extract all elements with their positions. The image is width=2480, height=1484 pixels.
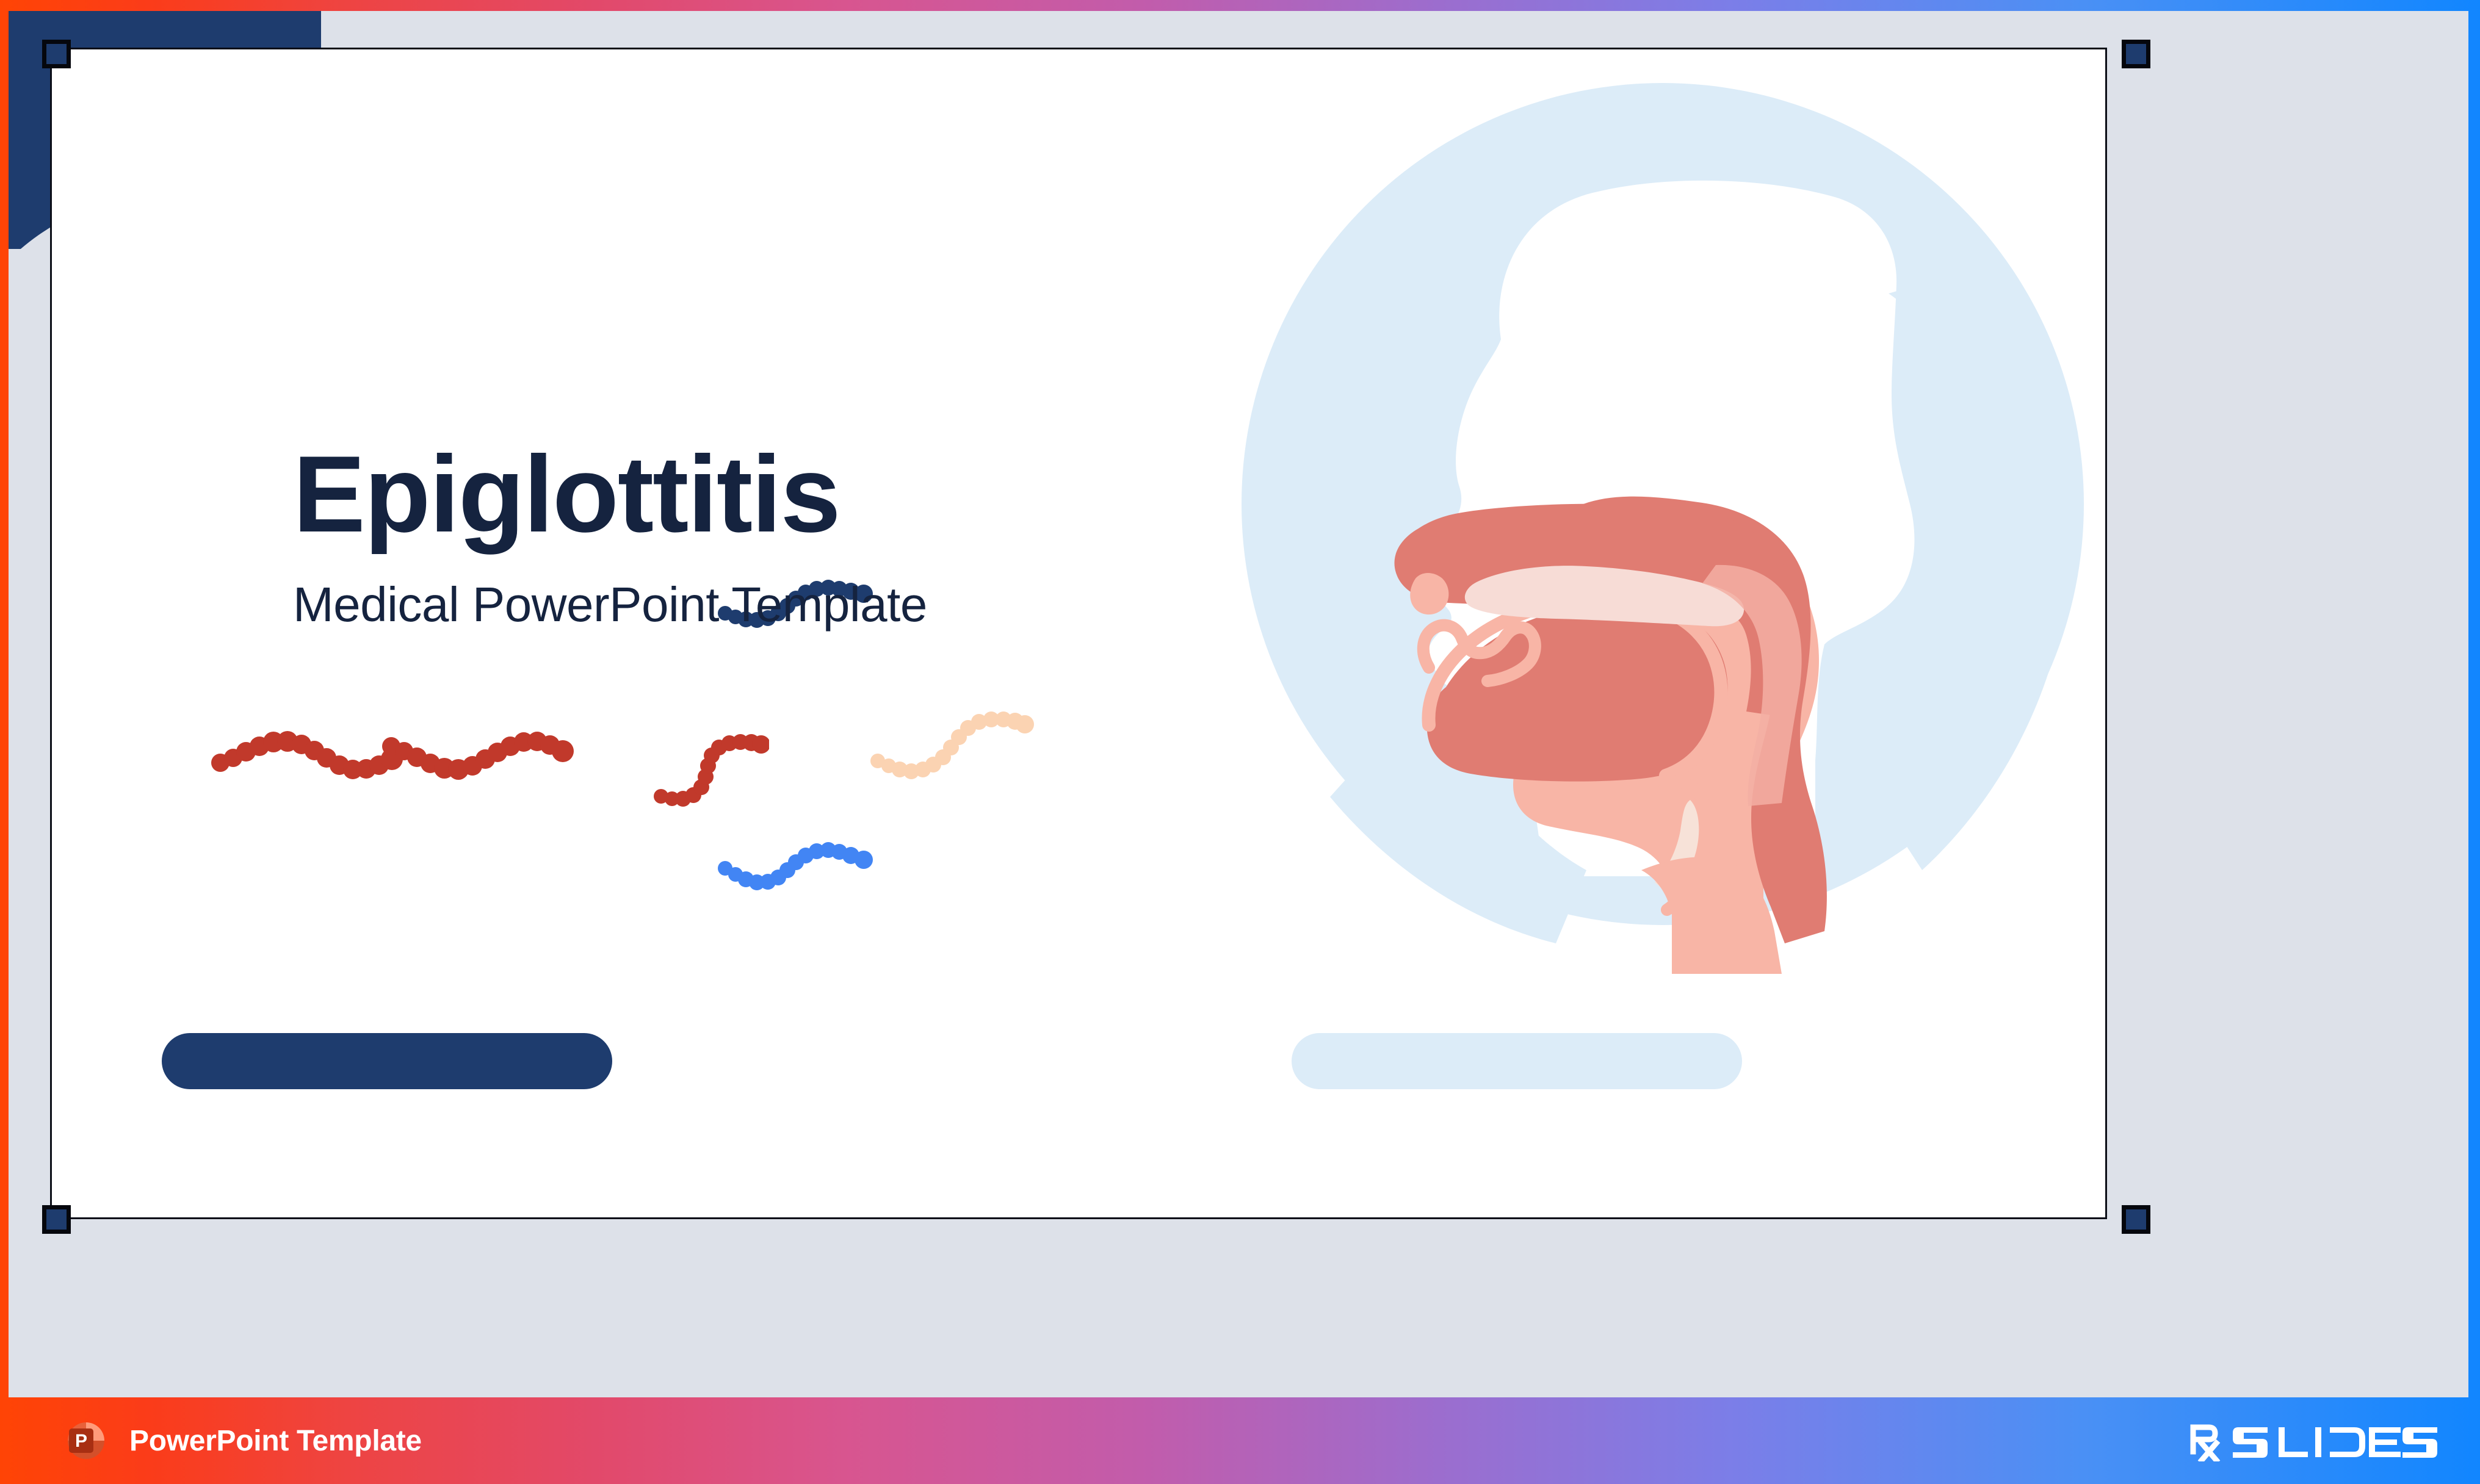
bacteria-peach xyxy=(870,702,1035,785)
bacteria-blue xyxy=(717,837,876,901)
title-block[interactable]: Epiglottitis Medical PowerPoint Template xyxy=(293,440,927,633)
powerpoint-brand: P PowerPoint Template xyxy=(66,1421,422,1461)
editor-canvas: Epiglottitis Medical PowerPoint Template xyxy=(9,11,2468,1397)
selection-handle-top-right[interactable] xyxy=(2122,40,2150,68)
light-blue-pill-shape[interactable] xyxy=(1292,1033,1742,1089)
selection-handle-bottom-left[interactable] xyxy=(42,1205,71,1234)
powerpoint-icon: P xyxy=(66,1421,106,1461)
powerpoint-template-label: PowerPoint Template xyxy=(129,1424,422,1458)
svg-text:P: P xyxy=(75,1431,87,1451)
head-profile-throat-anatomy-illustration xyxy=(1214,77,2105,986)
page-title: Epiglottitis xyxy=(293,440,927,549)
bacteria-red-left-2 xyxy=(381,721,577,791)
selection-handle-top-left[interactable] xyxy=(42,40,71,68)
selection-handle-bottom-right[interactable] xyxy=(2122,1205,2150,1234)
bottom-brand-bar: P PowerPoint Template xyxy=(0,1397,2480,1484)
rx-slides-logo xyxy=(2188,1420,2445,1461)
page-subtitle: Medical PowerPoint Template xyxy=(293,577,927,633)
slide-canvas[interactable]: Epiglottitis Medical PowerPoint Template xyxy=(50,48,2107,1219)
navy-pill-shape[interactable] xyxy=(162,1033,612,1089)
bacteria-red-left-1 xyxy=(211,718,406,788)
bacteria-red-mid xyxy=(653,728,769,810)
